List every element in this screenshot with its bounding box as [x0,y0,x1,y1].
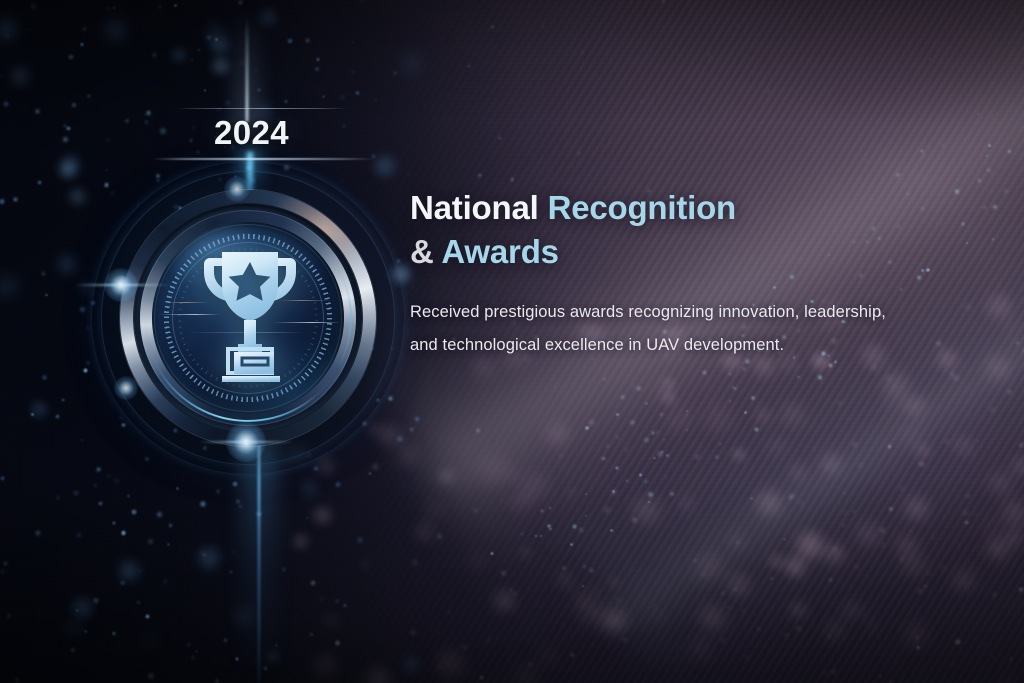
slide-canvas: 2024 [0,0,1024,683]
headline-word-awards: Awards [441,233,558,270]
text-content: National Recognition & Awards Received p… [410,186,940,362]
headline-word-national: National [410,189,548,226]
headline-ampersand: & [410,233,441,270]
trophy-icon [190,242,310,392]
headline: National Recognition & Awards [410,186,940,274]
year-label: 2024 [214,114,289,152]
body-description: Received prestigious awards recognizing … [410,296,910,362]
light-beam-top [246,18,249,122]
badge-medallion [120,190,376,446]
headline-word-recognition: Recognition [548,189,736,226]
